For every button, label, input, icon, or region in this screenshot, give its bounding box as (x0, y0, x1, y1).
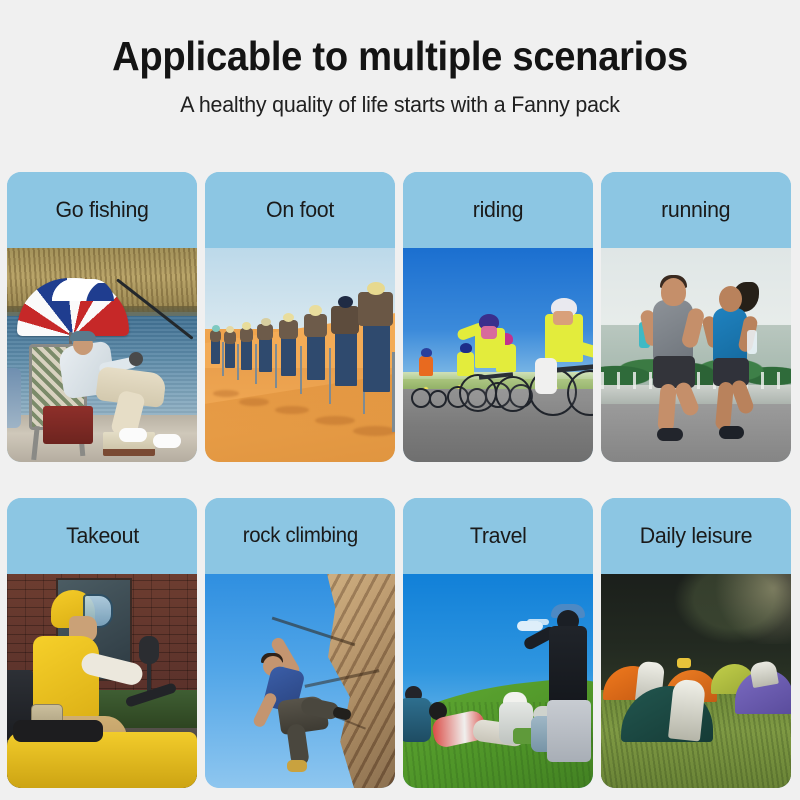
backpack-shape (304, 314, 327, 337)
card-label: On foot (266, 197, 334, 223)
hiker-shadow-shape (315, 416, 355, 425)
photo-travel (403, 574, 593, 788)
backpack-shape (279, 320, 298, 339)
card-header: rock climbing (205, 498, 395, 574)
railing-shape (601, 372, 791, 389)
tent-rainfly-shape (749, 660, 779, 688)
card-label: Travel (470, 523, 527, 549)
hat-shape (261, 318, 271, 326)
tent-rainfly-shape (668, 678, 706, 741)
bicycle-wheel-shape (495, 376, 531, 412)
male-runner-shorts-shape (653, 356, 695, 388)
sunlight-glow-shape (711, 574, 791, 644)
page-title: Applicable to multiple scenarios (28, 34, 772, 78)
trekking-pole-shape (237, 344, 239, 380)
reel-shape (129, 352, 143, 366)
cyclist-jersey-shape (419, 356, 433, 376)
hat-shape (242, 322, 251, 330)
card-header: riding (403, 172, 593, 248)
cyclist-face-shape (481, 326, 497, 339)
scenario-card-takeout[interactable]: Takeout (7, 498, 197, 788)
tent-flag-shape (677, 658, 691, 668)
cyclist-jersey-shape (457, 352, 474, 376)
scenario-card-on-foot[interactable]: On foot (205, 172, 395, 462)
scenario-card-rock-climbing[interactable]: rock climbing (205, 498, 395, 788)
mirror-stem-shape (147, 662, 151, 692)
trekking-pole-shape (222, 342, 224, 376)
running-shoe-shape (657, 428, 683, 441)
hat-shape (338, 296, 353, 308)
runner-leg-shape (657, 384, 676, 433)
trekking-pole-shape (275, 344, 277, 388)
cooler-shape (43, 406, 93, 444)
card-label: running (661, 197, 730, 223)
male-runner-head-shape (661, 278, 686, 306)
card-header: running (601, 172, 791, 248)
angler-shoe-shape (119, 428, 147, 442)
scenario-card-travel[interactable]: Travel (403, 498, 593, 788)
backpack-shape (331, 306, 359, 334)
climber-arm-shape (252, 691, 279, 729)
backpack-shape (257, 324, 273, 340)
card-label: Takeout (66, 523, 139, 549)
scenario-card-daily-leisure[interactable]: Daily leisure (601, 498, 791, 788)
scenario-grid-row: Takeout (7, 498, 793, 788)
page-subtitle: A healthy quality of life starts with a … (20, 92, 780, 118)
scenario-card-running[interactable]: running (601, 172, 791, 462)
hiker-shadow-shape (353, 426, 395, 436)
photo-takeout (7, 574, 197, 788)
card-header: Takeout (7, 498, 197, 574)
hat-shape (226, 326, 234, 333)
helmet-shape (421, 348, 432, 357)
bicycle-wheel-shape (459, 374, 497, 412)
scenario-card-go-fishing[interactable]: Go fishing (7, 172, 197, 462)
trekking-pole-shape (329, 348, 331, 404)
angler-cap-shape (70, 331, 96, 341)
backpack-shape (240, 328, 253, 342)
hat-shape (283, 313, 294, 322)
scooter-seat-shape (13, 720, 103, 742)
photo-on-foot (205, 248, 395, 462)
trekking-pole-shape (300, 346, 302, 394)
standing-traveller-shape (549, 626, 587, 708)
poster-header: Applicable to multiple scenarios A healt… (0, 0, 800, 118)
hat-shape (212, 325, 220, 332)
hiker-shadow-shape (275, 406, 309, 414)
card-header: Travel (403, 498, 593, 574)
photo-rock-climbing (205, 574, 395, 788)
seated-traveller-shape (403, 698, 431, 742)
cyclist-leg-shape (535, 358, 557, 394)
card-header: Go fishing (7, 172, 197, 248)
climbing-shoe-shape (287, 760, 307, 772)
card-header: Daily leisure (601, 498, 791, 574)
angler-shoe-shape (153, 434, 181, 448)
card-label: rock climbing (242, 524, 357, 548)
photo-go-fishing (7, 248, 197, 462)
scenario-grid-row: Go fishing (7, 172, 793, 462)
hiker-shadow-shape (213, 390, 239, 397)
helmet-shape (460, 343, 472, 353)
hiker-shadow-shape (239, 398, 269, 406)
cyclist-face-shape (553, 311, 573, 325)
photo-running (601, 248, 791, 462)
card-label: riding (473, 197, 523, 223)
umbrella-star-panel-shape (52, 279, 114, 301)
traveller-pants-shape (547, 700, 591, 762)
cloud-shape (517, 621, 543, 631)
running-shoe-shape (719, 426, 744, 439)
water-bottle-shape (747, 330, 757, 354)
bicycle-wheel-shape (411, 388, 431, 408)
hat-shape (367, 282, 385, 295)
card-label: Go fishing (55, 197, 148, 223)
scenarios-poster: Applicable to multiple scenarios A healt… (0, 0, 800, 800)
card-label: Daily leisure (640, 523, 752, 549)
female-runner-head-shape (719, 286, 742, 312)
bystander-shape (7, 368, 21, 428)
photo-daily-leisure (601, 574, 791, 788)
mirror-shape (139, 636, 159, 664)
scenario-grid: Go fishing (7, 172, 793, 788)
trekking-pole-shape (255, 344, 257, 384)
backpack-shape (358, 292, 393, 326)
trekking-pole-shape (392, 352, 395, 432)
card-header: On foot (205, 172, 395, 248)
hat-shape (309, 305, 322, 316)
photo-riding (403, 248, 593, 462)
bicycle-wheel-shape (429, 390, 447, 408)
scenario-card-riding[interactable]: riding (403, 172, 593, 462)
